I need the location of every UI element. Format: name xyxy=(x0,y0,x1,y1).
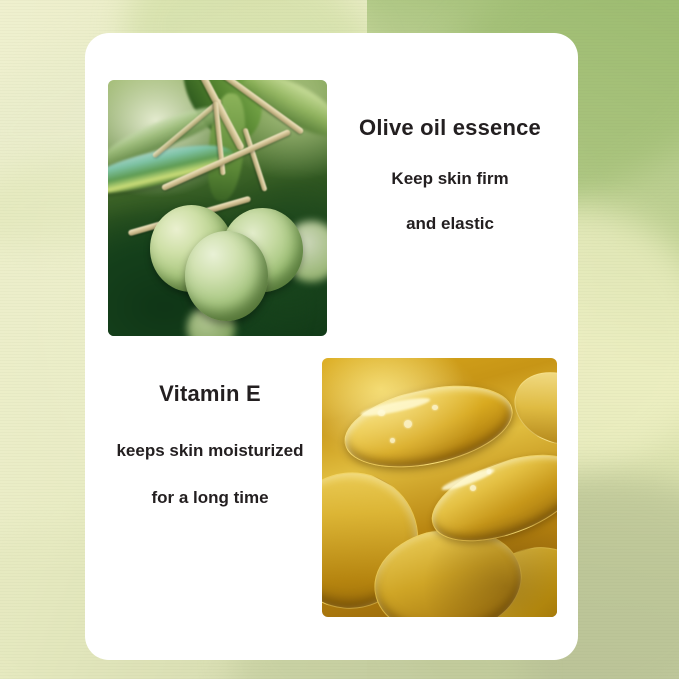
vitamin-e-heading: Vitamin E xyxy=(90,381,330,407)
vitamin-e-capsules-photo xyxy=(322,358,557,617)
olive-line-1: Keep skin firm xyxy=(335,169,565,189)
olive-line-2: and elastic xyxy=(335,214,565,234)
vitamin-e-line-1: keeps skin moisturized xyxy=(90,441,330,461)
olive-fruit xyxy=(185,231,268,321)
vitamin-e-text-block: Vitamin E keeps skin moisturized for a l… xyxy=(90,381,330,508)
olive-branch-photo xyxy=(108,80,327,336)
capsule-photo-sheen xyxy=(322,358,557,617)
product-infographic: Olive oil essence Keep skin firm and ela… xyxy=(0,0,679,679)
olive-text-block: Olive oil essence Keep skin firm and ela… xyxy=(335,115,565,234)
vitamin-e-line-2: for a long time xyxy=(90,488,330,508)
olive-heading: Olive oil essence xyxy=(335,115,565,141)
content-card: Olive oil essence Keep skin firm and ela… xyxy=(85,33,578,660)
